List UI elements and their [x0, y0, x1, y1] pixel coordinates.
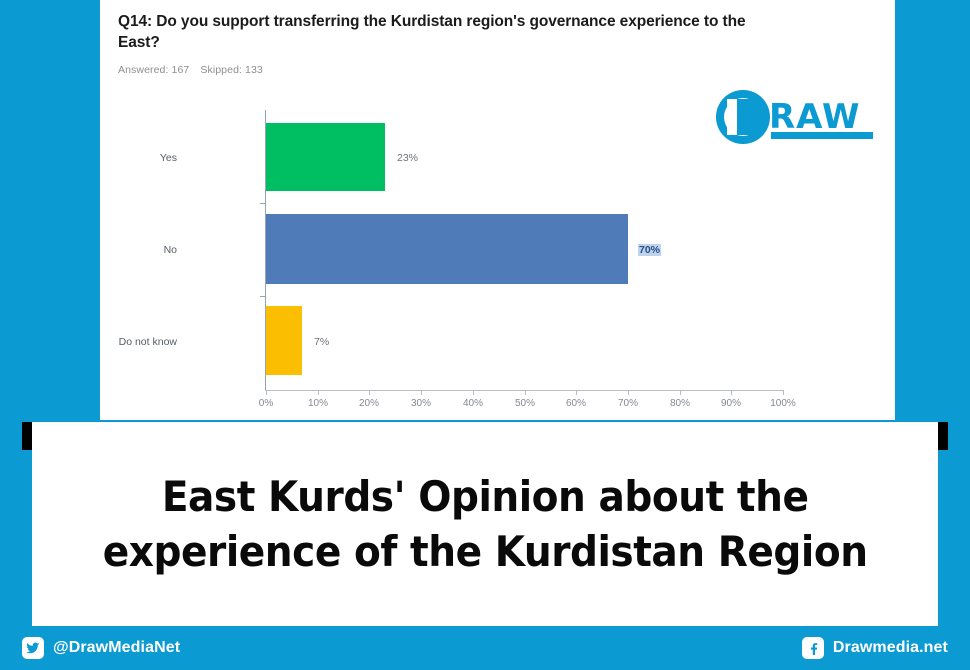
twitter-handle-label: @DrawMediaNet [53, 639, 180, 657]
x-axis-tick [576, 390, 577, 395]
x-axis-tick [318, 390, 319, 395]
value-label-do-not-know: 7% [314, 336, 329, 348]
headline-line-1: East Kurds' Opinion about the [103, 469, 868, 524]
y-axis-tick [260, 296, 265, 297]
x-tick-label: 30% [411, 398, 431, 409]
x-tick-label: 10% [308, 398, 328, 409]
corner-bracket-top-right-vertical [938, 422, 948, 450]
footer-bar: @DrawMediaNet Drawmedia.net [0, 626, 970, 670]
x-tick-label: 20% [359, 398, 379, 409]
chart-header: Q14: Do you support transferring the Kur… [118, 12, 885, 76]
x-tick-label: 80% [670, 398, 690, 409]
x-tick-label: 60% [566, 398, 586, 409]
category-label-no: No [57, 244, 177, 256]
x-tick-label: 90% [721, 398, 741, 409]
chart-panel: Q14: Do you support transferring the Kur… [100, 0, 895, 420]
bar-chart-plot: Yes No Do not know 23% 70% 7% 0% 10% 20%… [100, 110, 895, 410]
x-axis-tick [783, 390, 784, 395]
x-axis-tick [628, 390, 629, 395]
category-label-do-not-know: Do not know [57, 336, 177, 348]
skipped-count: Skipped: 133 [200, 64, 263, 76]
x-tick-label: 100% [770, 398, 796, 409]
x-axis-tick [525, 390, 526, 395]
x-axis-tick [421, 390, 422, 395]
x-tick-label: 0% [259, 398, 273, 409]
x-tick-label: 40% [463, 398, 483, 409]
facebook-icon[interactable] [802, 637, 824, 659]
answered-count: Answered: 167 [118, 64, 189, 76]
x-axis-tick [473, 390, 474, 395]
bar-no [266, 214, 628, 284]
facebook-handle-label: Drawmedia.net [833, 639, 948, 657]
twitter-icon[interactable] [22, 637, 44, 659]
y-axis-tick [260, 203, 265, 204]
x-axis-tick [266, 390, 267, 395]
headline-line-2: experience of the Kurdistan Region [103, 524, 868, 579]
value-label-yes: 23% [397, 152, 418, 164]
x-tick-label: 50% [515, 398, 535, 409]
survey-response-counts: Answered: 167Skipped: 133 [118, 64, 885, 76]
bar-yes [266, 123, 385, 191]
survey-question: Q14: Do you support transferring the Kur… [118, 12, 758, 53]
twitter-handle-group[interactable]: @DrawMediaNet [22, 637, 180, 659]
x-tick-label: 70% [618, 398, 638, 409]
headline-text: East Kurds' Opinion about the experience… [103, 469, 868, 580]
value-label-no: 70% [638, 244, 661, 256]
x-axis-tick [731, 390, 732, 395]
bar-do-not-know [266, 306, 302, 375]
facebook-handle-group[interactable]: Drawmedia.net [802, 637, 948, 659]
x-axis-tick [369, 390, 370, 395]
corner-bracket-top-left-vertical [22, 422, 32, 450]
x-axis-tick [680, 390, 681, 395]
category-label-yes: Yes [57, 152, 177, 164]
headline-card: East Kurds' Opinion about the experience… [32, 422, 938, 626]
x-axis-line [265, 390, 783, 391]
